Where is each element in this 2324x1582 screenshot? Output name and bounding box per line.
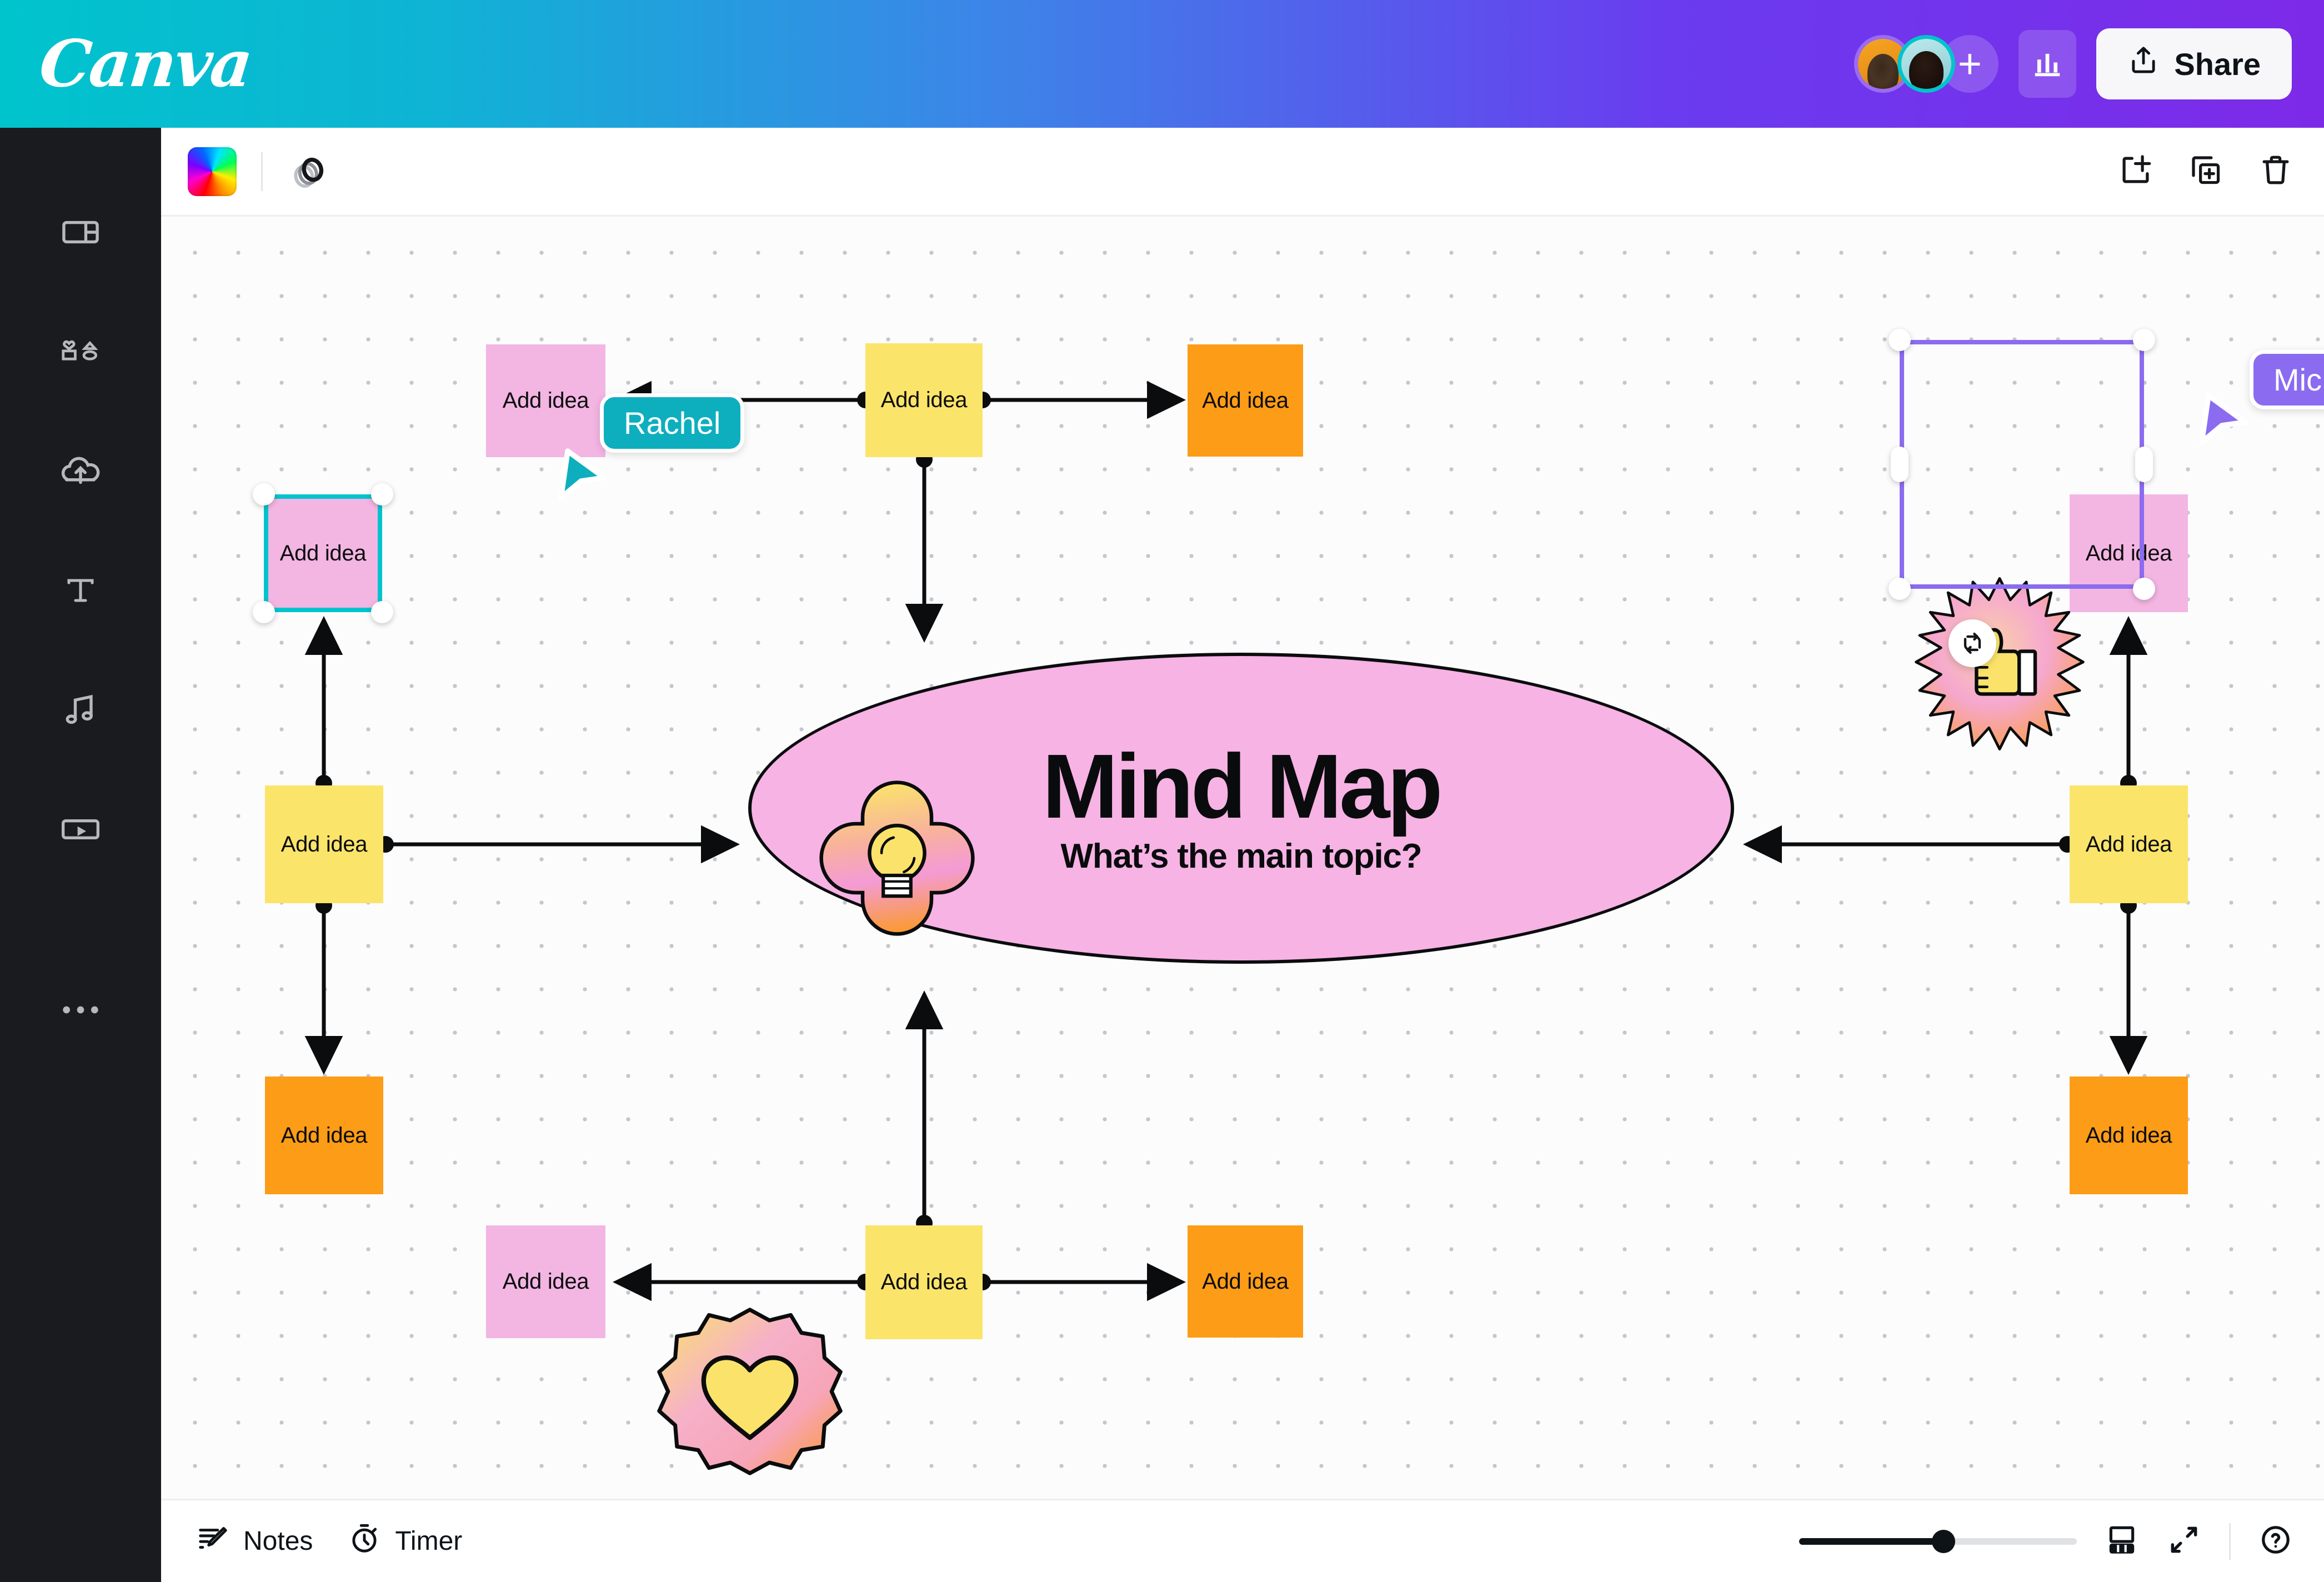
sticky-note[interactable]: Add idea: [865, 1225, 983, 1339]
bottom-right-controls: [1799, 1523, 2293, 1560]
sticky-note[interactable]: Add idea: [865, 343, 983, 457]
bottom-divider: [2229, 1523, 2231, 1560]
animate-stacked-circles-icon[interactable]: [288, 151, 329, 192]
help-question-icon[interactable]: [2258, 1523, 2293, 1560]
stopwatch-icon: [347, 1521, 382, 1562]
sticky-note[interactable]: Add idea: [265, 785, 383, 903]
bottom-toolbar: Notes Timer: [161, 1499, 2324, 1582]
notes-label: Notes: [243, 1526, 313, 1556]
avatar[interactable]: [1897, 35, 1955, 93]
sticky-note[interactable]: Add idea: [1188, 344, 1303, 457]
collaborator-name-chip: Rachel: [600, 393, 744, 453]
page-title: Mind Map: [1042, 741, 1440, 832]
share-button[interactable]: Share: [2096, 28, 2292, 99]
cursor-pointer-icon: [2192, 386, 2258, 452]
toolbar-page-actions: [2117, 152, 2294, 191]
sticky-note[interactable]: Add idea: [264, 494, 382, 612]
flower-lightbulb-sticker[interactable]: [811, 772, 983, 947]
page-grid-icon[interactable]: [2105, 1523, 2139, 1560]
rotate-handle-icon[interactable]: [1949, 619, 1996, 667]
sticky-note[interactable]: Add idea: [486, 1225, 605, 1338]
center-topic-subtitle: What’s the main topic?: [1061, 837, 1422, 876]
toolbar-divider: [261, 152, 263, 191]
timer-button[interactable]: Timer: [347, 1521, 462, 1562]
sticky-note[interactable]: Add idea: [486, 344, 605, 457]
sidebar-item-more[interactable]: [0, 950, 161, 1069]
color-picker-swatch[interactable]: [188, 147, 237, 196]
left-sidebar: [0, 128, 161, 1582]
collaborator-name-chip: Michael: [2250, 350, 2324, 409]
timer-label: Timer: [395, 1526, 462, 1556]
zoom-slider[interactable]: [1799, 1538, 2077, 1545]
zoom-slider-fill: [1799, 1538, 1944, 1545]
canva-logo[interactable]: Canva: [36, 26, 255, 102]
design-canvas[interactable]: Add idea Add idea Add idea Add idea Add …: [161, 217, 2324, 1499]
cursor-label-rachel: Rachel: [600, 393, 744, 453]
sidebar-item-elements[interactable]: [0, 292, 161, 411]
zoom-slider-thumb[interactable]: [1932, 1530, 1955, 1553]
collaborator-avatars: +: [1854, 35, 1999, 93]
top-header-bar: Canva + Share: [0, 0, 2324, 128]
sidebar-item-text[interactable]: [0, 530, 161, 650]
sticky-note[interactable]: Add idea: [1188, 1225, 1303, 1338]
bar-chart-icon[interactable]: [2019, 30, 2076, 98]
badge-heart-sticker[interactable]: [642, 1303, 858, 1483]
header-right-controls: + Share: [1854, 28, 2292, 99]
editor-toolbar: [161, 128, 2324, 217]
cursor-pointer-icon: [551, 441, 618, 508]
sidebar-item-design[interactable]: [0, 172, 161, 292]
share-label: Share: [2174, 46, 2261, 82]
cursor-label-michael: Michael: [2250, 350, 2324, 409]
sticky-note[interactable]: Add idea: [265, 1077, 383, 1194]
starburst-thumbsup-sticker[interactable]: [1911, 575, 2088, 755]
duplicate-page-icon[interactable]: [2187, 152, 2224, 191]
sticky-note[interactable]: Add idea: [2070, 785, 2188, 903]
expand-fullscreen-icon[interactable]: [2167, 1523, 2201, 1560]
sidebar-item-videos[interactable]: [0, 769, 161, 889]
trash-delete-icon[interactable]: [2257, 152, 2294, 191]
sidebar-item-audio[interactable]: [0, 650, 161, 769]
notes-pencil-icon: [196, 1521, 230, 1562]
notes-button[interactable]: Notes: [196, 1521, 313, 1562]
add-page-icon[interactable]: [2117, 152, 2154, 191]
sidebar-item-uploads[interactable]: [0, 411, 161, 530]
share-upload-icon: [2127, 44, 2160, 84]
sticky-note[interactable]: Add idea: [2070, 1077, 2188, 1194]
